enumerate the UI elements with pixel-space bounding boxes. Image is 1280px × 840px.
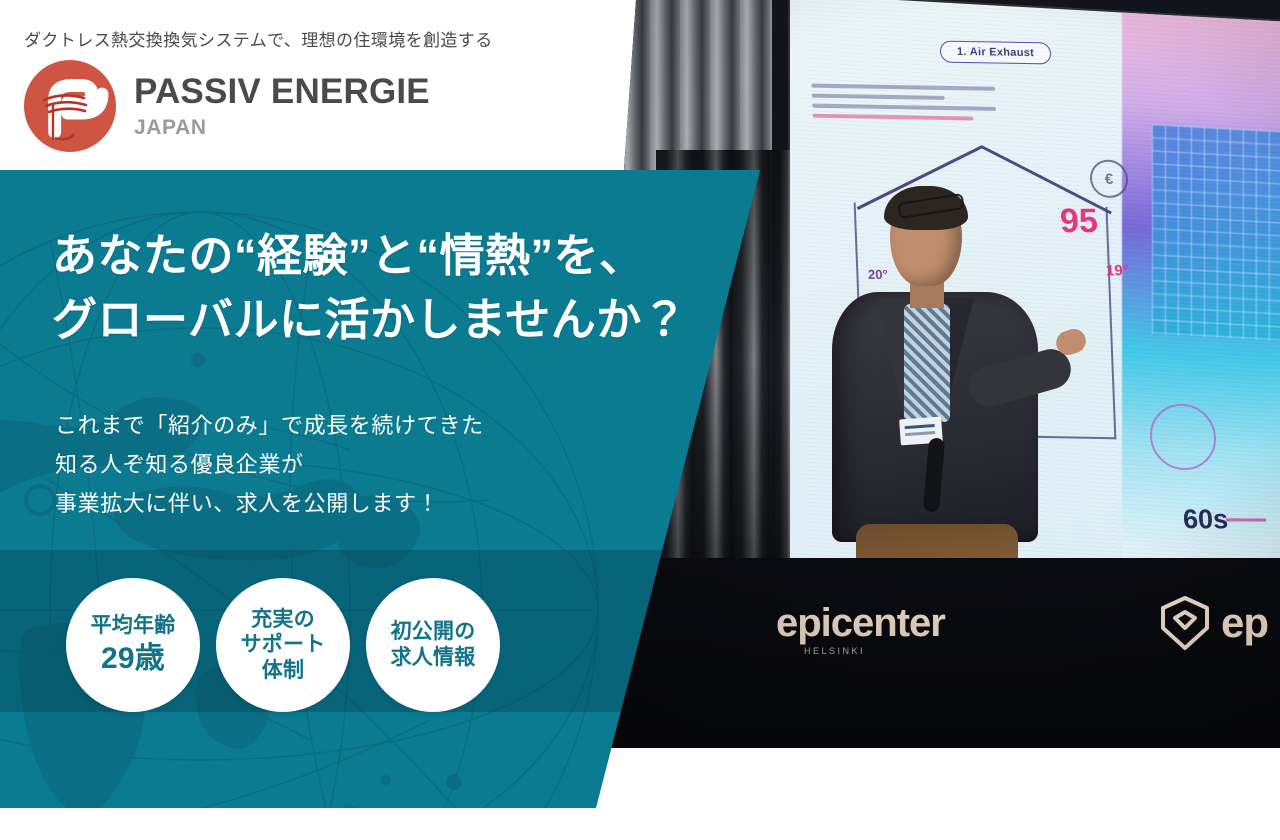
badge-first-public-jobs: 初公開の 求人情報 [366,578,500,712]
stage-brand-subtitle: HELSINKI [804,646,865,656]
stage-backdrop-band: epicenter HELSINKI ep [560,558,1280,748]
subcopy-line-3: 事業拡大に伴い、求人を公開します！ [55,484,484,523]
badge-support-line2: サポート [241,632,326,658]
badge-support-system: 充実の サポート 体制 [216,578,350,712]
badge-jobs-line1: 初公開の [391,619,476,645]
slide-grid-graphic [1152,124,1280,342]
slide-infographic-panel [1122,3,1280,573]
hero-badge-list: 平均年齢 29歳 充実の サポート 体制 初公開の 求人情報 [66,578,500,712]
passiv-energie-logo-icon[interactable] [22,58,118,154]
badge-average-age-line2: 29歳 [101,641,165,678]
badge-support-line3: 体制 [262,658,304,684]
subcopy-line-2: 知る人ぞ知る優良企業が [55,445,484,484]
headline-line-1: あなたの“経験”と“情熱”を、 [52,224,687,288]
site-tagline: ダクトレス熱交換換気システムで、理想の住環境を創造する [24,26,493,51]
slide-temp-indoor: 19° [1106,262,1130,279]
epicenter-shield-icon [1159,594,1211,652]
slide-fan-icon [1148,404,1217,470]
brand-lockup[interactable]: PASSIV ENERGIE JAPAN [22,58,430,154]
hero-banner: 1. Air Exhaust 95 19° 20° 60s During the… [0,0,1280,840]
badge-average-age-line1: 平均年齢 [91,613,176,639]
slide-cycle-value: 60s [1182,504,1229,535]
slide-efficiency-value: 95 [1059,202,1099,241]
badge-average-age: 平均年齢 29歳 [66,578,200,712]
slide-euro-award-icon [1089,160,1129,198]
slide-flow-arrow-icon [1226,518,1266,521]
hero-subcopy: これまで「紹介のみ」で成長を続けてきた 知る人ぞ知る優良企業が 事業拡大に伴い、… [55,406,484,523]
slide-section-label: 1. Air Exhaust [940,41,1052,65]
badge-support-line1: 充実の [251,607,315,633]
epicenter-logo: ep [1159,594,1268,652]
headline-line-2: グローバルに活かしませんか？ [52,288,687,352]
epicenter-mark-text: ep [1221,599,1268,647]
brand-country: JAPAN [134,117,430,138]
slide-body-text [811,84,1042,128]
hero-headline: あなたの“経験”と“情熱”を、 グローバルに活かしませんか？ [52,224,687,352]
subcopy-line-1: これまで「紹介のみ」で成長を続けてきた [55,406,484,445]
badge-jobs-line2: 求人情報 [391,645,476,671]
stage-brand-wordmark: epicenter [776,601,945,646]
brand-name: PASSIV ENERGIE [134,74,430,109]
